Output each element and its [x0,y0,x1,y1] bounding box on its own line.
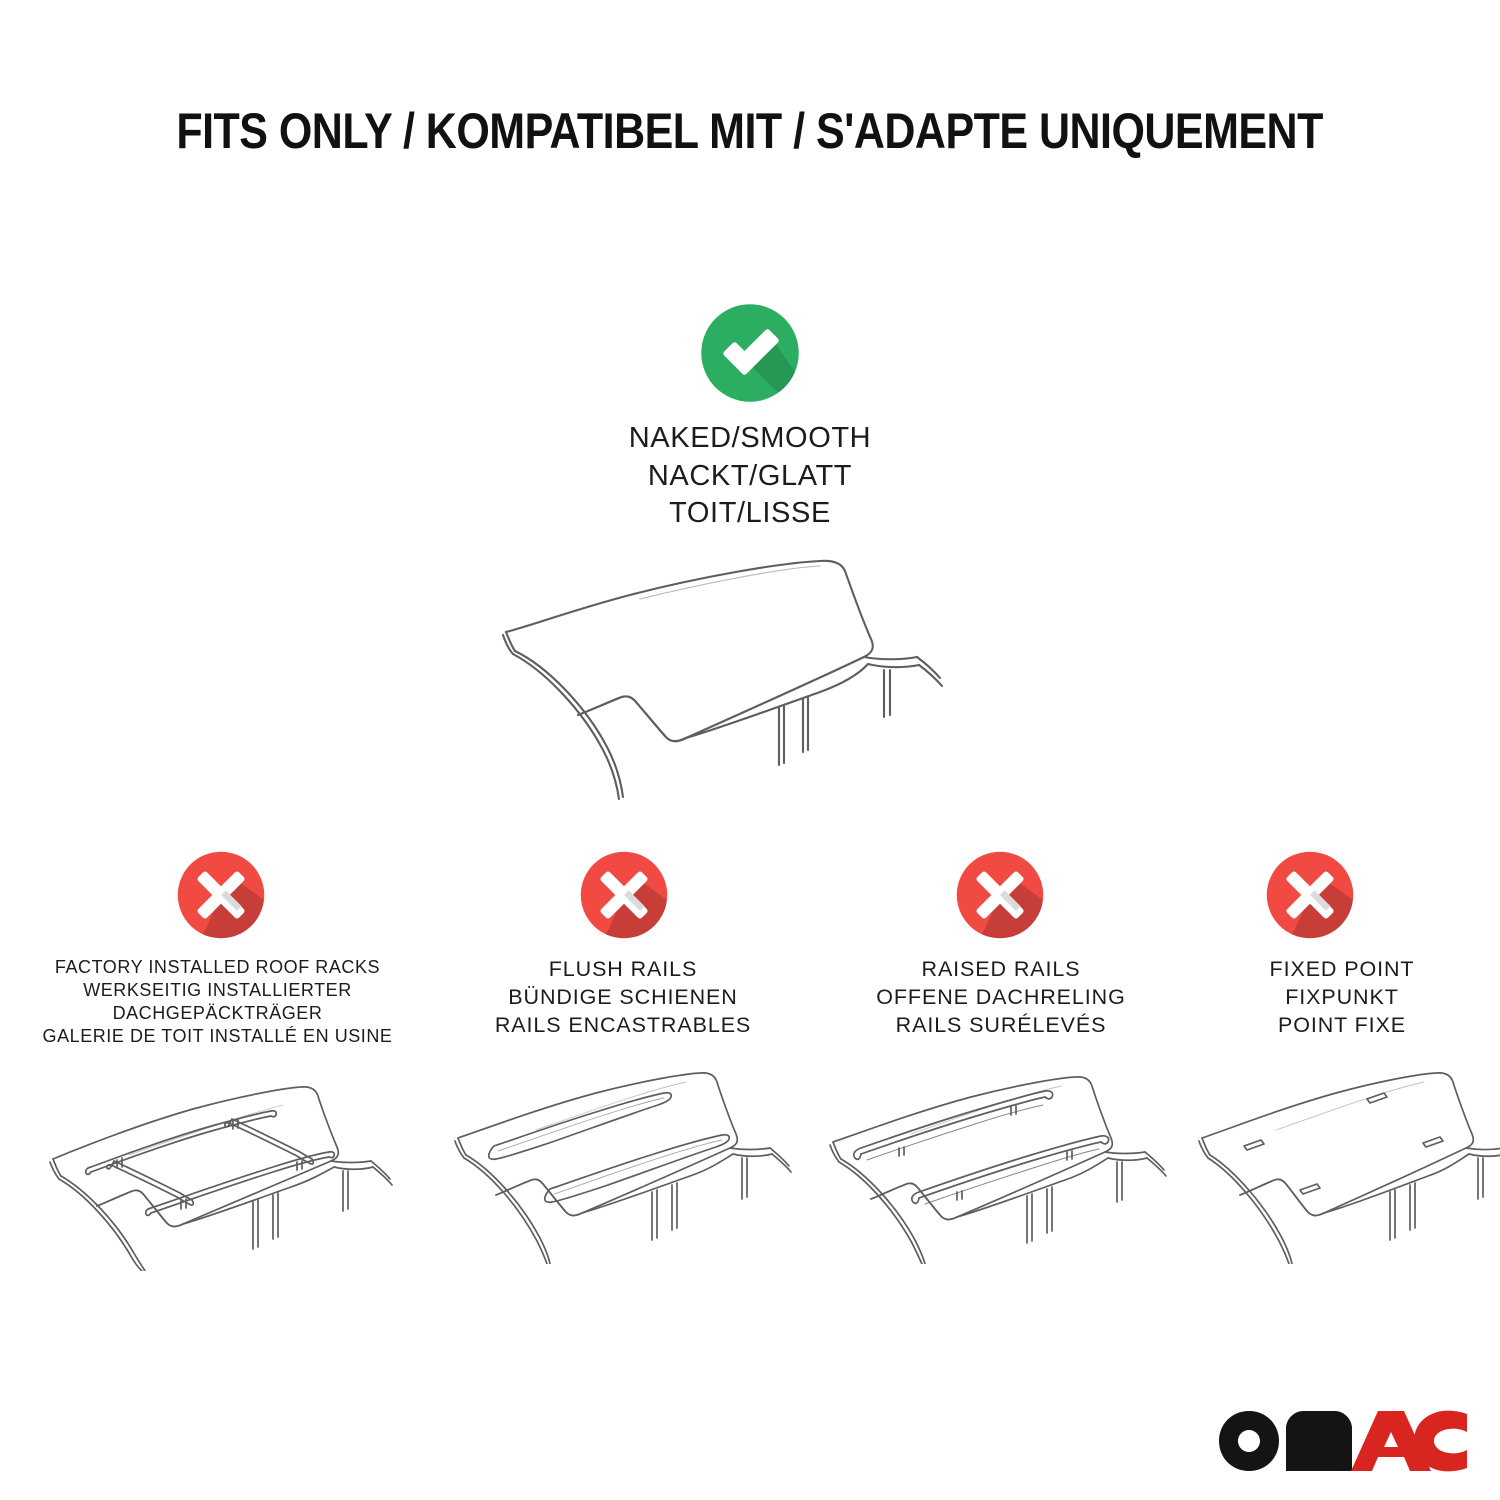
label-line-en: FIXED POINT [1192,956,1492,984]
label-line-en: FLUSH RAILS [438,956,808,984]
x-circle-icon [174,848,268,942]
label-line-fr: RAILS SURÉLEVÉS [815,1012,1187,1040]
x-circle-icon [953,848,1047,942]
compatible-label-en: NAKED/SMOOTH [0,420,1500,458]
incompatible-fitment-card-flush-rails: FLUSH RAILS BÜNDIGE SCHIENEN RAILS ENCAS… [438,848,808,1264]
omac-logo [1218,1410,1468,1472]
label-line-fr: RAILS ENCASTRABLES [438,1012,808,1040]
compatible-label: NAKED/SMOOTH NACKT/GLATT TOIT/LISSE [0,420,1500,533]
x-circle-icon [577,848,671,942]
label-line-de-2: DACHGEPÄCKTRÄGER [5,1002,430,1025]
compatible-label-de: NACKT/GLATT [0,458,1500,496]
compatible-fitment-card: NAKED/SMOOTH NACKT/GLATT TOIT/LISSE [0,300,1500,812]
label-line-de: OFFENE DACHRELING [815,984,1187,1012]
label-line-de: BÜNDIGE SCHIENEN [438,984,808,1012]
incompatible-fitment-card-fixed-point: FIXED POINT FIXPUNKT POINT FIXE [1192,848,1492,1264]
label-line-en: FACTORY INSTALLED ROOF RACKS [5,956,430,979]
incompatible-label-raised-rails: RAISED RAILS OFFENE DACHRELING RAILS SUR… [815,956,1187,1040]
page-title-bar: FITS ONLY / KOMPATIBEL MIT / S'ADAPTE UN… [0,105,1500,158]
car-roof-smooth-illustration [490,547,1010,812]
car-roof-raised-rails-illustration [815,1064,1193,1264]
incompatible-label-flush-rails: FLUSH RAILS BÜNDIGE SCHIENEN RAILS ENCAS… [438,956,808,1040]
incompatible-fitment-row: FACTORY INSTALLED ROOF RACKS WERKSEITIG … [0,848,1500,1288]
label-line-de: FIXPUNKT [1192,984,1492,1012]
car-roof-flush-rails-illustration [440,1064,818,1264]
incompatible-fitment-card-raised-rails: RAISED RAILS OFFENE DACHRELING RAILS SUR… [815,848,1187,1264]
label-line-de-1: WERKSEITIG INSTALLIERTER [5,979,430,1002]
check-circle-icon [697,300,803,406]
x-circle-icon [1263,848,1357,942]
incompatible-label-factory-rack: FACTORY INSTALLED ROOF RACKS WERKSEITIG … [5,956,430,1047]
car-roof-fixed-point-illustration [1184,1064,1500,1264]
compatible-label-fr: TOIT/LISSE [0,495,1500,533]
car-roof-factory-rack-illustration [25,1071,425,1271]
label-line-fr: POINT FIXE [1192,1012,1492,1040]
label-line-fr: GALERIE DE TOIT INSTALLÉ EN USINE [5,1025,430,1048]
incompatible-label-fixed-point: FIXED POINT FIXPUNKT POINT FIXE [1192,956,1492,1040]
incompatible-fitment-card-factory-rack: FACTORY INSTALLED ROOF RACKS WERKSEITIG … [5,848,430,1271]
label-line-en: RAISED RAILS [815,956,1187,984]
page-title: FITS ONLY / KOMPATIBEL MIT / S'ADAPTE UN… [177,105,1324,158]
